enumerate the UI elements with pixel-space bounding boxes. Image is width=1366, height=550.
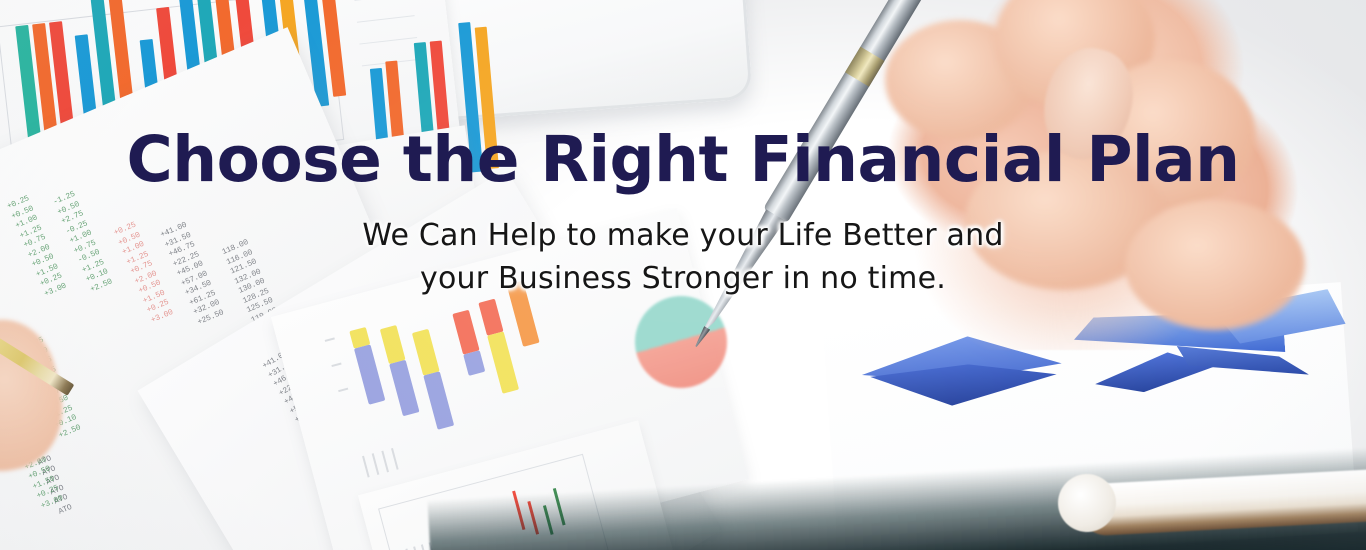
pastel-bar — [380, 325, 406, 364]
knuckle — [1125, 200, 1305, 330]
pastel-bar — [423, 371, 454, 429]
pastel-bar — [452, 310, 479, 355]
axis-tick — [338, 388, 348, 393]
pen-tip — [693, 326, 710, 348]
hero-banner: Successful Plans +0.25 +0.50 +1.00 +1.25… — [0, 0, 1366, 550]
pastel-bar — [463, 350, 485, 376]
pastel-bar — [507, 281, 540, 347]
axis-tick — [372, 453, 380, 475]
pastel-bar — [487, 331, 519, 393]
axis-tick — [325, 337, 335, 342]
pastel-bar — [354, 344, 385, 404]
axis-tick — [391, 448, 399, 470]
axis-tick — [331, 363, 341, 368]
pastel-bar — [478, 299, 503, 336]
pastel-bar — [412, 329, 440, 376]
axis-tick — [362, 456, 370, 478]
background-photo: Successful Plans +0.25 +0.50 +1.00 +1.25… — [0, 0, 1366, 550]
axis-tick — [381, 451, 389, 473]
pastel-bar — [389, 360, 419, 417]
